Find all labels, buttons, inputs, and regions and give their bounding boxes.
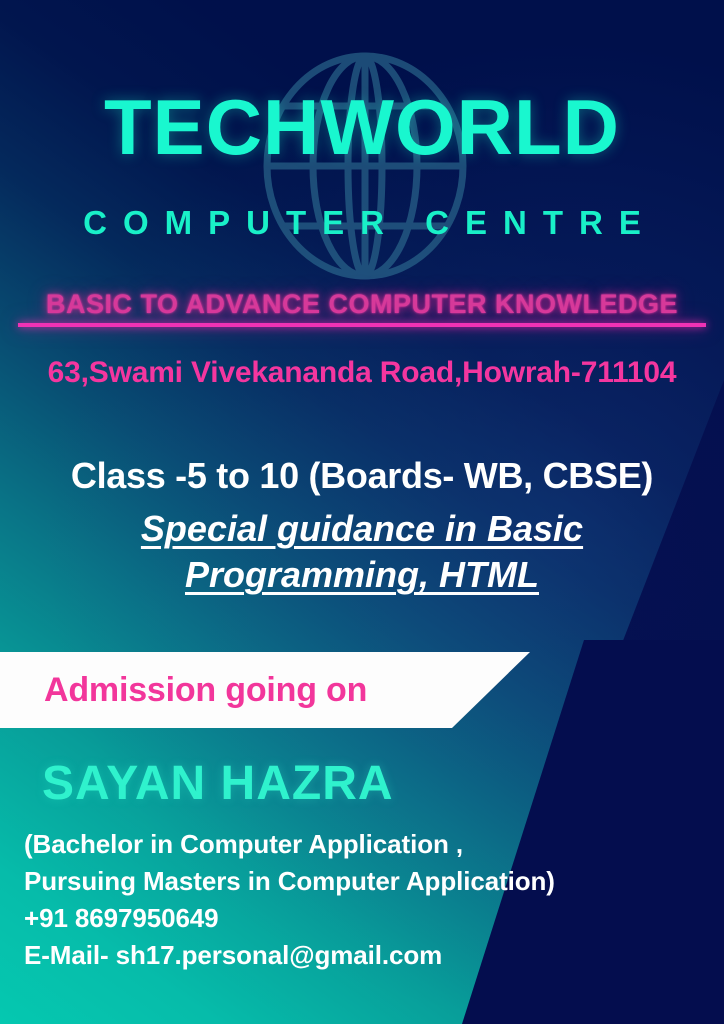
phone-number: +91 8697950649: [24, 900, 624, 937]
admission-banner-label: Admission going on: [44, 668, 367, 712]
presenter-name: SAYAN HAZRA: [42, 760, 394, 808]
address-line: 63,Swami Vivekananda Road,Howrah-711104: [0, 356, 724, 389]
course-classes: Class -5 to 10 (Boards- WB, CBSE): [0, 455, 724, 496]
email-address: E-Mail- sh17.personal@gmail.com: [24, 937, 624, 974]
qualification-line-2: Pursuing Masters in Computer Application…: [24, 863, 624, 900]
course-guidance-line-1: Special guidance in Basic: [0, 506, 724, 552]
course-guidance-line-2: Programming, HTML: [0, 552, 724, 598]
course-block: Class -5 to 10 (Boards- WB, CBSE) Specia…: [0, 455, 724, 599]
brand-subtitle: COMPUTER CENTRE: [0, 206, 724, 239]
contact-details: (Bachelor in Computer Application , Purs…: [24, 826, 624, 974]
poster-canvas: TECHWORLD COMPUTER CENTRE BASIC TO ADVAN…: [0, 0, 724, 1024]
tagline-underline: [18, 323, 706, 327]
qualification-line-1: (Bachelor in Computer Application ,: [24, 826, 624, 863]
page-title: TECHWORLD: [0, 88, 724, 166]
tagline: BASIC TO ADVANCE COMPUTER KNOWLEDGE: [0, 290, 724, 318]
